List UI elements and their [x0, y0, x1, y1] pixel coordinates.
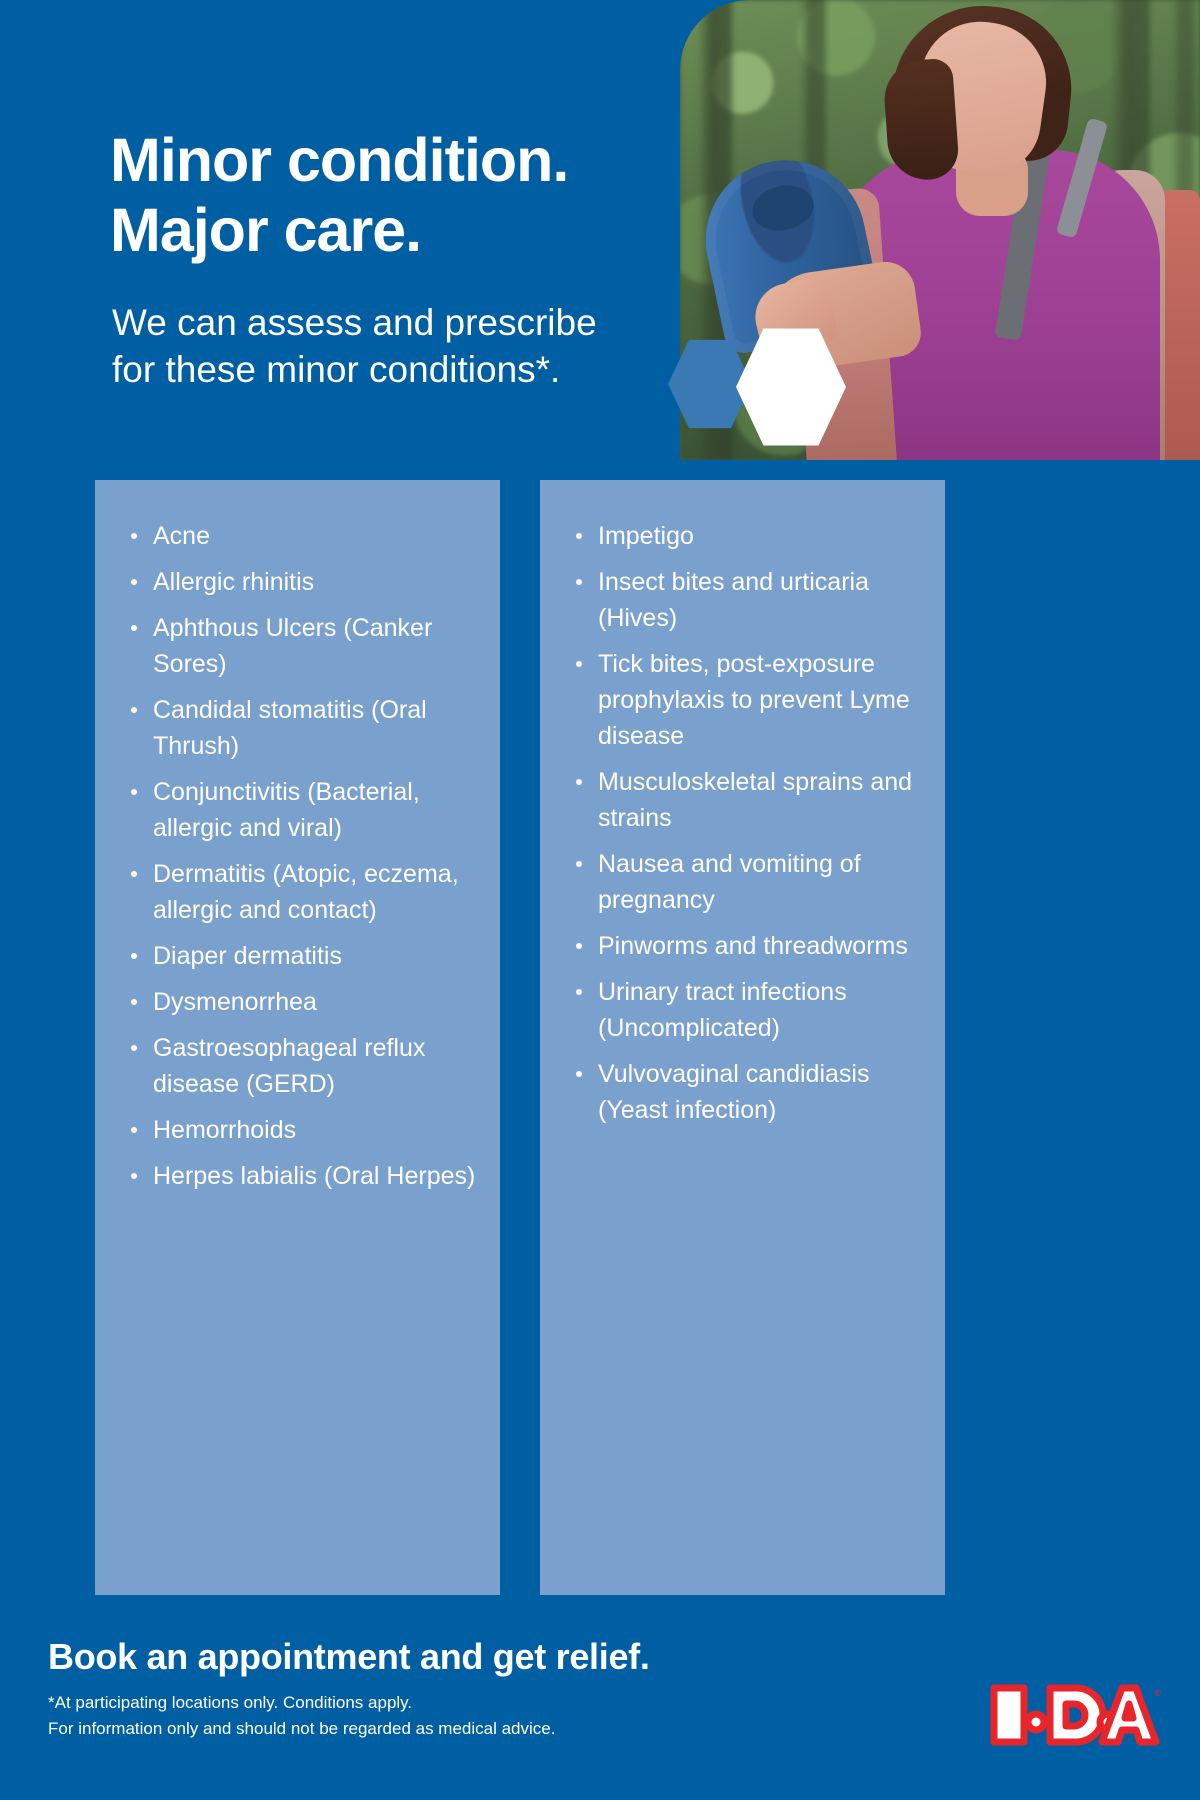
condition-item: Hemorrhoids — [127, 1112, 478, 1148]
conditions-panel-right: ImpetigoInsect bites and urticaria (Hive… — [540, 480, 945, 1595]
subheading: We can assess and prescribe for these mi… — [112, 300, 682, 393]
subheading-line-1: We can assess and prescribe — [112, 300, 682, 347]
subheading-line-2: for these minor conditions*. — [112, 347, 682, 394]
conditions-panel-left: AcneAllergic rhinitisAphthous Ulcers (Ca… — [95, 480, 500, 1595]
condition-item: Conjunctivitis (Bacterial, allergic and … — [127, 774, 478, 846]
cta-headline: Book an appointment and get relief. — [48, 1636, 650, 1678]
poster-root: Minor condition. Major care. We can asse… — [0, 0, 1200, 1800]
ida-logo: ® — [984, 1674, 1162, 1756]
condition-item: Aphthous Ulcers (Canker Sores) — [127, 610, 478, 682]
condition-item: Nausea and vomiting of pregnancy — [572, 846, 923, 918]
disclaimer: *At participating locations only. Condit… — [48, 1690, 555, 1743]
condition-item: Tick bites, post-exposure prophylaxis to… — [572, 646, 923, 754]
disclaimer-line-2: For information only and should not be r… — [48, 1716, 555, 1742]
condition-item: Vulvovaginal candidiasis (Yeast infectio… — [572, 1056, 923, 1128]
condition-item: Dysmenorrhea — [127, 984, 478, 1020]
page-title: Minor condition. Major care. — [110, 126, 690, 265]
condition-item: Diaper dermatitis — [127, 938, 478, 974]
condition-item: Musculoskeletal sprains and strains — [572, 764, 923, 836]
condition-item: Dermatitis (Atopic, eczema, allergic and… — [127, 856, 478, 928]
condition-item: Candidal stomatitis (Oral Thrush) — [127, 692, 478, 764]
condition-item: Gastroesophageal reflux disease (GERD) — [127, 1030, 478, 1102]
condition-item: Herpes labialis (Oral Herpes) — [127, 1158, 478, 1194]
condition-item: Allergic rhinitis — [127, 564, 478, 600]
condition-item: Pinworms and threadworms — [572, 928, 923, 964]
registered-trademark-icon: ® — [1154, 1688, 1161, 1698]
condition-item: Insect bites and urticaria (Hives) — [572, 564, 923, 636]
condition-item: Urinary tract infections (Uncomplicated) — [572, 974, 923, 1046]
disclaimer-line-1: *At participating locations only. Condit… — [48, 1690, 555, 1716]
headline-line-2: Major care. — [110, 196, 690, 266]
condition-item: Acne — [127, 518, 478, 554]
condition-item: Impetigo — [572, 518, 923, 554]
conditions-list-right: ImpetigoInsect bites and urticaria (Hive… — [540, 480, 945, 1128]
headline-line-1: Minor condition. — [110, 126, 690, 196]
conditions-list-left: AcneAllergic rhinitisAphthous Ulcers (Ca… — [95, 480, 500, 1194]
